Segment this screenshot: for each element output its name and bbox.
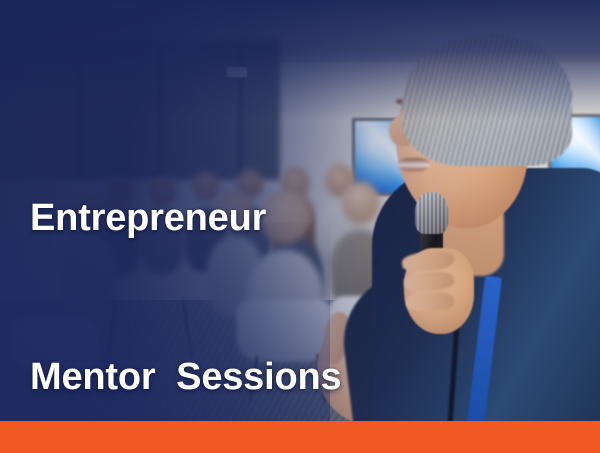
- headline-line-1: Entrepreneur: [30, 192, 450, 245]
- event-promo-poster: Entrepreneur Mentor Sessions with Craig …: [0, 0, 600, 453]
- headline-line-2: Mentor Sessions: [30, 351, 450, 404]
- bottom-accent-bar: [0, 421, 600, 453]
- poster-headline: Entrepreneur Mentor Sessions with Craig …: [30, 86, 450, 453]
